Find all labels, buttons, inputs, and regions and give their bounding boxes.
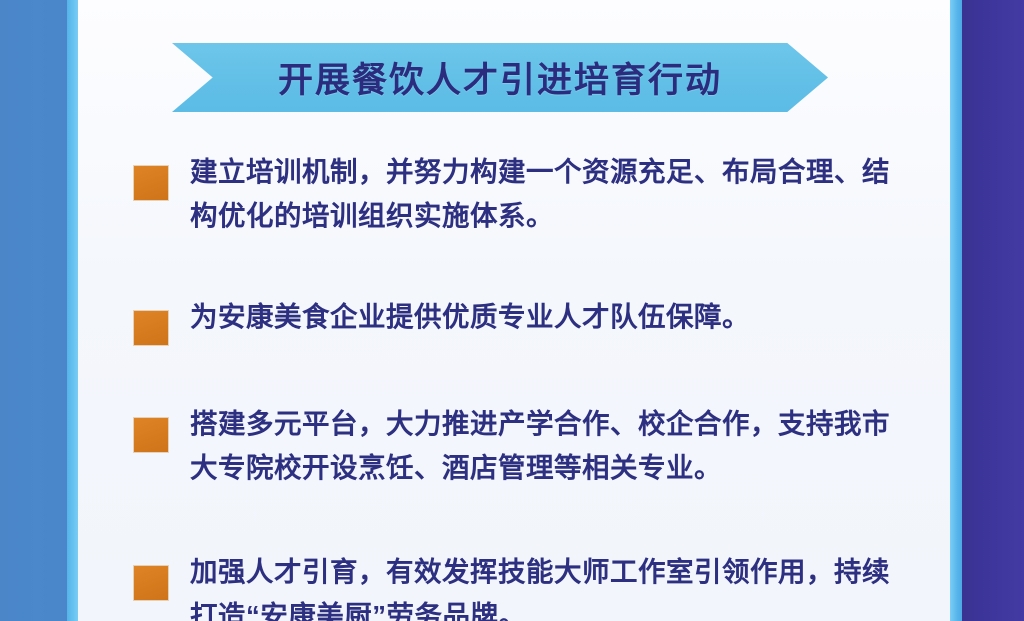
bullet-square-icon [134, 566, 168, 600]
bullet-list: 建立培训机制，并努力构建一个资源充足、布局合理、结构优化的培训组织实施体系。 为… [134, 150, 924, 621]
decor-right-indigo-band [962, 0, 1024, 621]
list-item-text: 搭建多元平台，大力推进产学合作、校企合作，支持我市大专院校开设烹饪、酒店管理等相… [190, 402, 908, 490]
decor-right-cyan-stripe [950, 0, 962, 621]
list-item: 搭建多元平台，大力推进产学合作、校企合作，支持我市大专院校开设烹饪、酒店管理等相… [134, 402, 924, 490]
spacer [134, 345, 924, 402]
page-title: 开展餐饮人才引进培育行动 [172, 43, 828, 112]
decor-left-blue-band [0, 0, 67, 621]
spacer [134, 490, 924, 550]
decor-left-cyan-stripe [67, 0, 78, 621]
list-item: 为安康美食企业提供优质专业人才队伍保障。 [134, 295, 924, 345]
list-item-text: 建立培训机制，并努力构建一个资源充足、布局合理、结构优化的培训组织实施体系。 [190, 150, 908, 238]
list-item: 建立培训机制，并努力构建一个资源充足、布局合理、结构优化的培训组织实施体系。 [134, 150, 924, 238]
bullet-square-icon [134, 311, 168, 345]
list-item-text: 加强人才引育，有效发挥技能大师工作室引领作用，持续打造“安康美厨”劳务品牌。 [190, 550, 908, 621]
bullet-square-icon [134, 166, 168, 200]
spacer [134, 238, 924, 295]
bullet-square-icon [134, 418, 168, 452]
slide-canvas: 开展餐饮人才引进培育行动 建立培训机制，并努力构建一个资源充足、布局合理、结构优… [0, 0, 1024, 621]
list-item: 加强人才引育，有效发挥技能大师工作室引领作用，持续打造“安康美厨”劳务品牌。 [134, 550, 924, 621]
list-item-text: 为安康美食企业提供优质专业人才队伍保障。 [190, 295, 750, 339]
